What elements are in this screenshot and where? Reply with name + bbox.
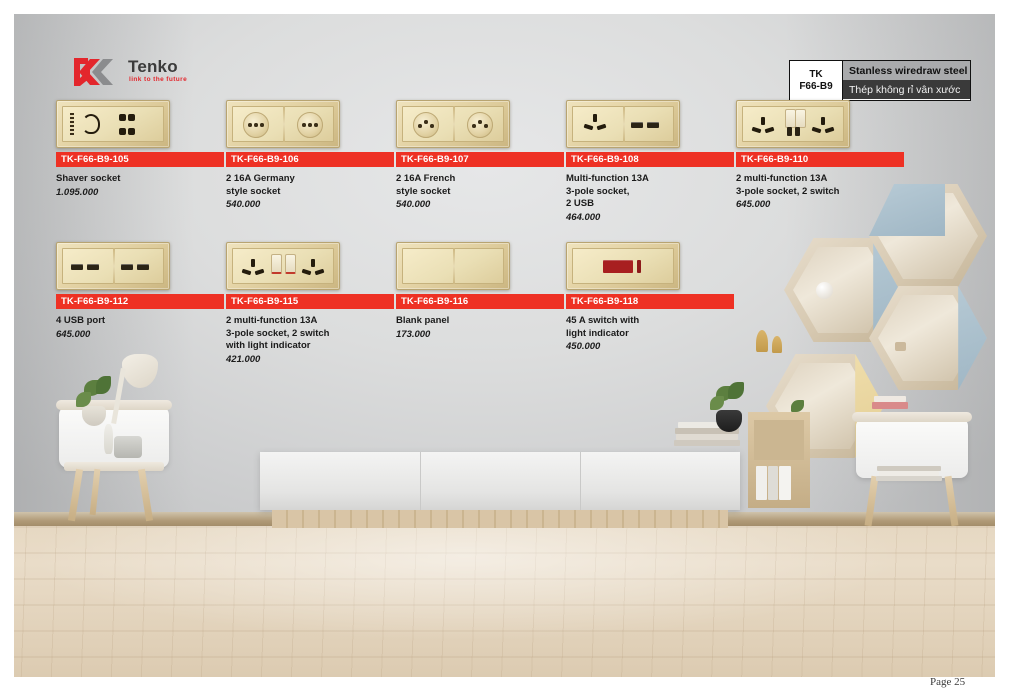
product-price: 421.000 [226,354,394,365]
product-card-106[interactable]: TK-F66-B9-106 2 16A Germany style socket… [226,100,394,210]
product-name: 2 multi-function 13A 3-pole socket, 2 sw… [226,315,394,353]
product-price: 450.000 [566,341,734,352]
product-sku-badge: TK-F66-B9-106 [226,152,394,167]
product-image-110 [736,100,848,146]
hexagon-shelf-3 [869,286,987,390]
bird-figurine-2 [772,336,782,353]
product-card-105[interactable]: TK-F66-B9-105 Shaver socket 1.095.000 [56,100,224,198]
product-sku-badge: TK-F66-B9-115 [226,294,394,309]
product-sku-badge: TK-F66-B9-107 [396,152,564,167]
product-name: 45 A switch with light indicator [566,315,734,340]
product-sku-badge: TK-F66-B9-110 [736,152,904,167]
product-card-107[interactable]: TK-F66-B9-107 2 16A French style socket … [396,100,564,210]
product-image-115 [226,242,338,288]
product-image-107 [396,100,508,146]
product-card-108[interactable]: TK-F66-B9-108 Multi-function 13A 3-pole … [566,100,734,223]
material-badge-labels: Stanless wiredraw steel Thép không rỉ vâ… [843,61,970,100]
brand-logo: Tenko link to the future [66,56,246,90]
product-sku-badge: TK-F66-B9-112 [56,294,224,309]
product-sku-badge: TK-F66-B9-108 [566,152,734,167]
floor-reflection [14,526,995,677]
decor-box [895,342,906,351]
pink-book [872,402,908,409]
product-image-116 [396,242,508,288]
sideboard-pallet-base [272,510,728,528]
decor-vase [104,424,113,454]
sideboard-cabinet [260,452,740,510]
material-badge: TK F66-B9 Stanless wiredraw steel Thép k… [789,60,971,101]
product-card-110[interactable]: TK-F66-B9-110 2 multi-function 13A 3-pol… [736,100,904,210]
material-code-line2: F66-B9 [799,81,832,93]
catalog-page: Tenko link to the future TK F66-B9 Stanl… [0,0,1009,691]
product-card-112[interactable]: TK-F66-B9-112 4 USB port 645.000 [56,242,224,340]
product-price: 464.000 [566,212,734,223]
product-price: 645.000 [736,199,904,210]
product-name: Multi-function 13A 3-pole socket, 2 USB [566,173,734,211]
bird-figurine-1 [756,330,768,352]
product-image-112 [56,242,168,288]
product-image-106 [226,100,338,146]
product-price: 540.000 [226,199,394,210]
catalog-sheet: Tenko link to the future TK F66-B9 Stanl… [14,14,995,677]
decor-glass-box [114,436,142,458]
brand-tagline: link to the future [129,76,187,83]
product-price: 540.000 [396,199,564,210]
product-name: Blank panel [396,315,564,328]
product-name: 2 16A Germany style socket [226,173,394,198]
product-name: 4 USB port [56,315,224,328]
brand-name: Tenko [128,57,178,77]
product-image-108 [566,100,678,146]
white-book [874,396,906,402]
product-sku-badge: TK-F66-B9-105 [56,152,224,167]
material-badge-code: TK F66-B9 [790,61,843,100]
product-card-115[interactable]: TK-F66-B9-115 2 multi-function 13A 3-pol… [226,242,394,365]
product-price: 645.000 [56,329,224,340]
product-sku-badge: TK-F66-B9-116 [396,294,564,309]
material-label-en: Stanless wiredraw steel [843,61,970,80]
book-stack-right [876,462,946,484]
product-card-118[interactable]: TK-F66-B9-118 45 A switch with light ind… [566,242,734,352]
product-price: 173.000 [396,329,564,340]
material-label-vi: Thép không rỉ vân xước [843,80,970,99]
product-price: 1.095.000 [56,187,224,198]
product-name: Shaver socket [56,173,224,186]
product-sku-badge: TK-F66-B9-118 [566,294,734,309]
product-name: 2 multi-function 13A 3-pole socket, 2 sw… [736,173,904,198]
decor-ball [816,282,833,299]
product-card-116[interactable]: TK-F66-B9-116 Blank panel 173.000 [396,242,564,340]
product-name: 2 16A French style socket [396,173,564,198]
product-image-118 [566,242,678,288]
product-image-105 [56,100,168,146]
material-code-line1: TK [809,69,822,81]
page-number: Page 25 [930,676,965,688]
tenko-logo-icon [66,56,128,88]
